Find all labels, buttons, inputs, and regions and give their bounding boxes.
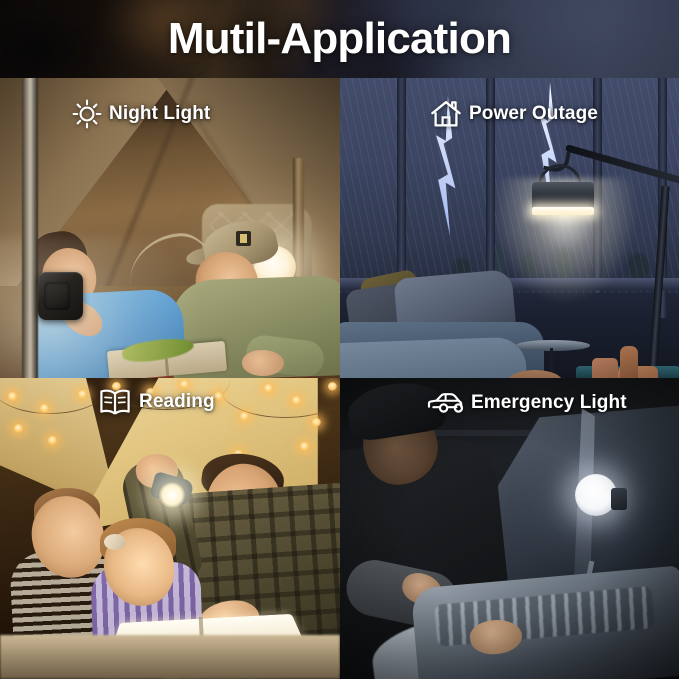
rain-streaks [340, 78, 679, 293]
bedroom-storm-scene-photo [340, 78, 679, 378]
panel-power-outage[interactable]: Power Outage [340, 78, 679, 378]
panel-emergency-light[interactable]: Emergency Light [340, 378, 679, 679]
garage-repair-scene-photo [340, 378, 679, 679]
bed-duvet-fold [340, 337, 527, 378]
clip-on-lamp-product [38, 272, 83, 320]
panel-reading[interactable]: Reading [0, 378, 340, 679]
panel-night-light[interactable]: Night Light [0, 78, 340, 378]
handheld-light-lens-glow [158, 482, 186, 508]
man-hands [242, 350, 284, 376]
window-mullion [593, 78, 602, 293]
ceramic-vase-short [592, 358, 618, 378]
work-light-clip [611, 488, 627, 510]
window-mullion [486, 78, 495, 293]
side-table-top [516, 340, 590, 351]
product-feature-collage: Mutil-Application [0, 0, 679, 679]
application-grid: Night Light [0, 78, 679, 679]
girl-hair-bow [104, 534, 126, 550]
window-mullion [397, 78, 406, 293]
floor-rug [0, 635, 340, 679]
man-cap-logo [236, 231, 251, 246]
tent-scene-photo [0, 78, 340, 378]
reading-fort-scene-photo [0, 378, 340, 679]
hanging-lantern-product [532, 182, 594, 210]
ceramic-vase-tall [620, 346, 638, 378]
page-title: Mutil-Application [0, 17, 679, 61]
tent-pole-left [22, 78, 38, 378]
header-banner: Mutil-Application [0, 0, 679, 78]
